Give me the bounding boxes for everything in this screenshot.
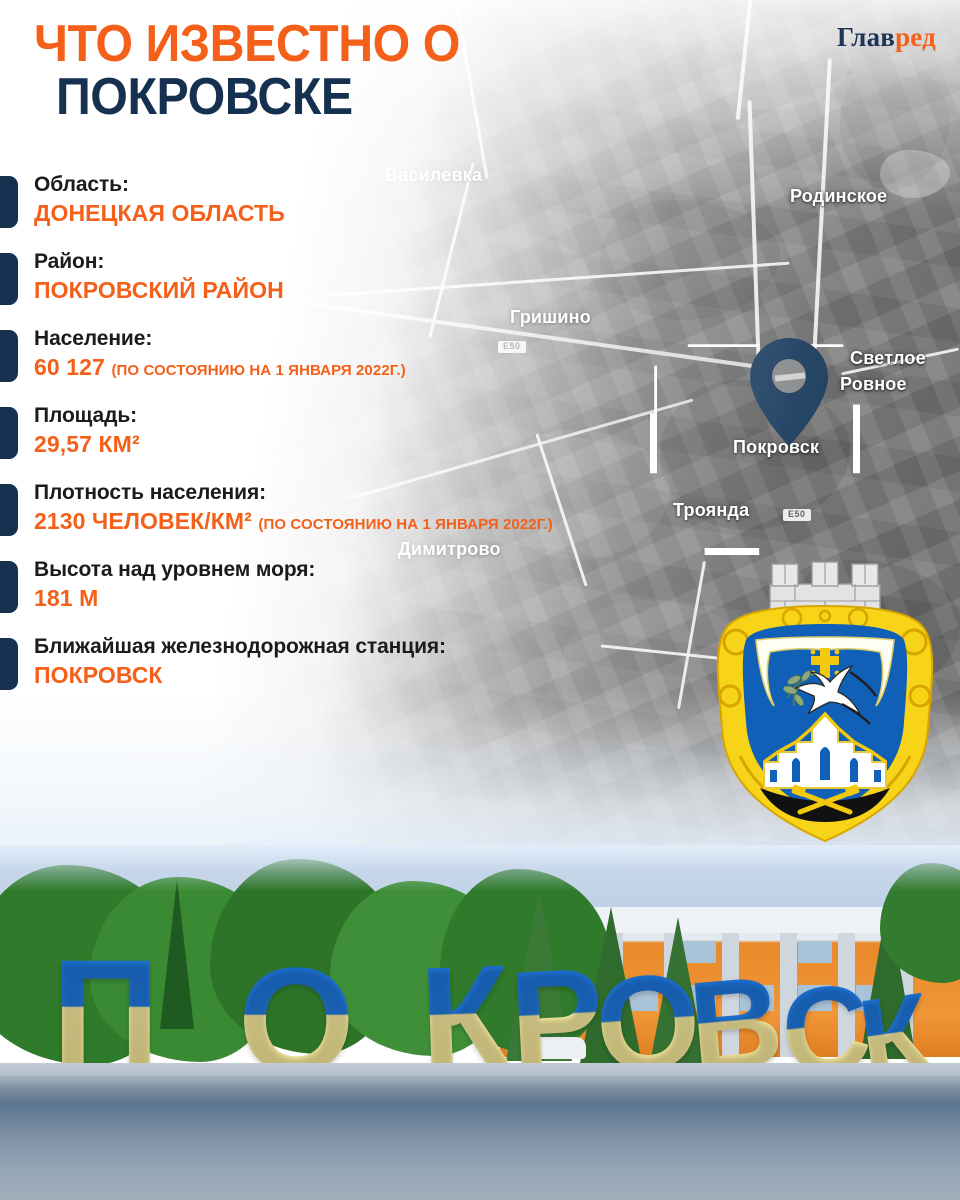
fact-bullet-marker <box>0 176 18 228</box>
brand-text-glav: Глав <box>837 22 895 52</box>
photo-plinth <box>0 1063 960 1200</box>
fact-item: Район:ПОКРОВСКИЙ РАЙОН <box>0 249 780 305</box>
fact-bullet-marker <box>0 407 18 459</box>
fact-label: Плотность населения: <box>34 480 780 506</box>
photo-plinth-edge <box>0 1063 960 1076</box>
fact-bullet-marker <box>0 253 18 305</box>
coat-of-arms-pokrovsk <box>700 556 950 856</box>
fact-item: Население:60 127 (ПО СОСТОЯНИЮ НА 1 ЯНВА… <box>0 326 780 382</box>
fact-value-main: 2130 ЧЕЛОВЕК/КМ² <box>34 508 252 534</box>
title-line-1: ЧТО ИЗВЕСТНО О <box>34 18 629 71</box>
fact-value: ДОНЕЦКАЯ ОБЛАСТЬ <box>34 199 780 228</box>
fact-bullet-marker <box>0 484 18 536</box>
fact-label: Высота над уровнем моря: <box>34 557 780 583</box>
fact-label: Ближайшая железнодорожная станция: <box>34 634 780 660</box>
fact-label: Площадь: <box>34 403 780 429</box>
fact-label: Население: <box>34 326 780 352</box>
fact-value-main: 29,57 КМ² <box>34 431 140 457</box>
fact-item: Ближайшая железнодорожная станция:ПОКРОВ… <box>0 634 780 690</box>
title-line-2: ПОКРОВСКЕ <box>56 71 631 124</box>
fact-bullet-marker <box>0 638 18 690</box>
fact-value-main: ДОНЕЦКАЯ ОБЛАСТЬ <box>34 200 285 226</box>
fact-item: Область:ДОНЕЦКАЯ ОБЛАСТЬ <box>0 172 780 228</box>
fact-value: ПОКРОВСК <box>34 661 780 690</box>
fact-value-note: (ПО СОСТОЯНИЮ НА 1 ЯНВАРЯ 2022Г.) <box>111 362 405 379</box>
fact-value: 60 127 (ПО СОСТОЯНИЮ НА 1 ЯНВАРЯ 2022Г.) <box>34 353 780 382</box>
infographic-page: E50E50 ВасилевкаРодинскоеГришиноСветлоеР… <box>0 0 960 1200</box>
fact-label: Район: <box>34 249 780 275</box>
fact-value-main: ПОКРОВСК <box>34 662 163 688</box>
brand-logo-glavred[interactable]: Главред <box>837 24 936 51</box>
fact-value: 2130 ЧЕЛОВЕК/КМ² (ПО СОСТОЯНИЮ НА 1 ЯНВА… <box>34 507 780 536</box>
fact-item: Плотность населения:2130 ЧЕЛОВЕК/КМ² (ПО… <box>0 480 780 536</box>
fact-value: 181 М <box>34 584 780 613</box>
fact-item: Площадь:29,57 КМ² <box>0 403 780 459</box>
fact-label: Область: <box>34 172 780 198</box>
fact-value-note: (ПО СОСТОЯНИЮ НА 1 ЯНВАРЯ 2022Г.) <box>258 516 552 533</box>
page-title: ЧТО ИЗВЕСТНО О ПОКРОВСКЕ <box>34 18 674 124</box>
pokrovsk-city-sign-photo: ПОКРОВСК <box>0 845 960 1200</box>
fact-value: ПОКРОВСКИЙ РАЙОН <box>34 276 780 305</box>
fact-value-main: 181 М <box>34 585 98 611</box>
fact-value: 29,57 КМ² <box>34 430 780 459</box>
city-sign-letters: ПОКРОВСК <box>0 903 960 1073</box>
fact-bullet-marker <box>0 330 18 382</box>
fact-value-main: 60 127 <box>34 354 105 380</box>
fact-bullet-marker <box>0 561 18 613</box>
fact-item: Высота над уровнем моря:181 М <box>0 557 780 613</box>
brand-text-red: ред <box>895 22 936 52</box>
fact-value-main: ПОКРОВСКИЙ РАЙОН <box>34 277 284 303</box>
fact-list: Область:ДОНЕЦКАЯ ОБЛАСТЬРайон:ПОКРОВСКИЙ… <box>0 172 780 711</box>
